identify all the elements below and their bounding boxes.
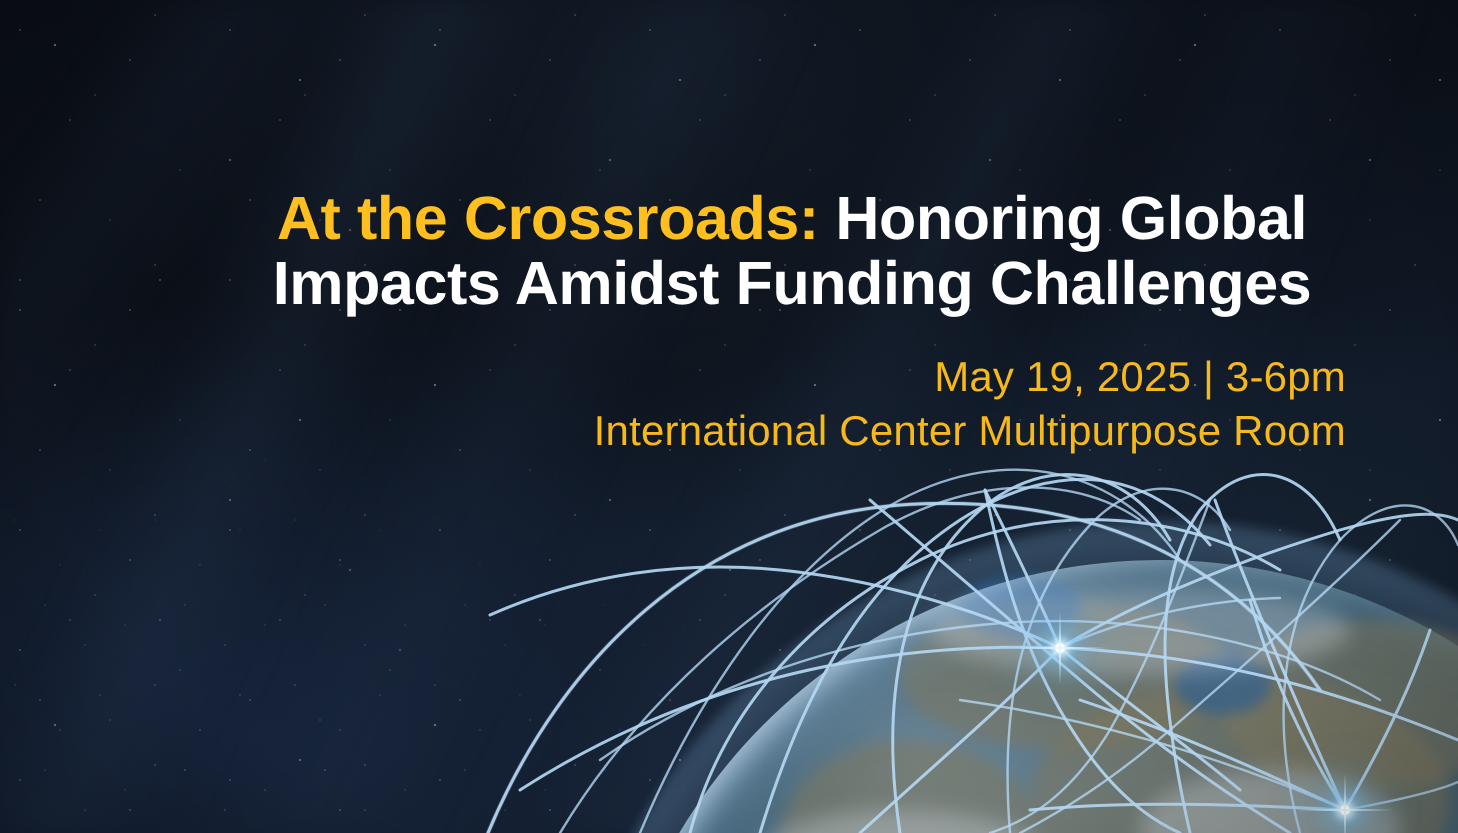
network-node-primary (1055, 643, 1065, 653)
event-banner: At the Crossroads: Honoring Global Impac… (0, 0, 1458, 833)
page-title: At the Crossroads: Honoring Global Impac… (232, 186, 1352, 315)
title-accent: At the Crossroads: (277, 184, 819, 252)
network-node-secondary (1340, 805, 1350, 815)
event-venue: International Center Multipurpose Room (594, 407, 1346, 455)
event-date: May 19, 2025 | 3-6pm (934, 353, 1346, 401)
